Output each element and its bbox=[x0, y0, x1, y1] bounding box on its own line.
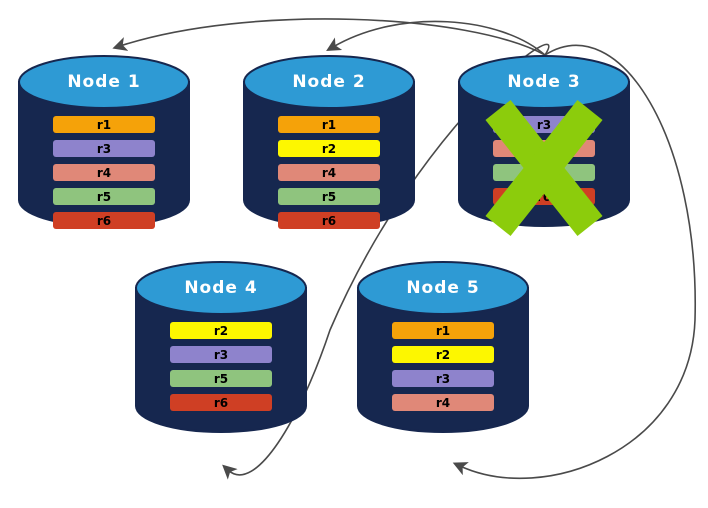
edge-node3-to-node1 bbox=[120, 19, 545, 55]
node-1-top-disc bbox=[19, 56, 189, 108]
node-4-replica-r2[interactable]: r2 bbox=[170, 322, 272, 339]
node-5-replica-r3[interactable]: r3 bbox=[392, 370, 494, 387]
node-2-replica-r4[interactable]: r4 bbox=[278, 164, 380, 181]
node-3-replica-r6[interactable]: r6 bbox=[493, 188, 595, 205]
node-5-replica-r1[interactable]: r1 bbox=[392, 322, 494, 339]
node-2-replica-r6[interactable]: r6 bbox=[278, 212, 380, 229]
diagram-canvas: Node 1r1r3r4r5r6Node 2r1r2r4r5r6Node 3r3… bbox=[0, 0, 708, 508]
node-4-replica-r3[interactable]: r3 bbox=[170, 346, 272, 363]
node-2-replica-r2[interactable]: r2 bbox=[278, 140, 380, 157]
node-1-replica-r3[interactable]: r3 bbox=[53, 140, 155, 157]
node-4-replica-r5[interactable]: r5 bbox=[170, 370, 272, 387]
node-3-top-disc bbox=[459, 56, 629, 108]
node-2[interactable]: Node 2r1r2r4r5r6 bbox=[243, 56, 415, 226]
node-1-replica-r1[interactable]: r1 bbox=[53, 116, 155, 133]
node-3-replica-r3[interactable]: r3 bbox=[493, 116, 595, 133]
node-1-replica-r6[interactable]: r6 bbox=[53, 212, 155, 229]
node-2-top-disc bbox=[244, 56, 414, 108]
node-3[interactable]: Node 3r3r4r5r6 bbox=[458, 56, 630, 226]
node-4[interactable]: Node 4r2r3r5r6 bbox=[135, 262, 307, 432]
node-3-replica-r5[interactable]: r5 bbox=[493, 164, 595, 181]
node-5-replica-r2[interactable]: r2 bbox=[392, 346, 494, 363]
node-2-replica-r5[interactable]: r5 bbox=[278, 188, 380, 205]
node-5[interactable]: Node 5r1r2r3r4 bbox=[357, 262, 529, 432]
node-4-top-disc bbox=[136, 262, 306, 314]
node-2-replica-r1[interactable]: r1 bbox=[278, 116, 380, 133]
node-3-replica-r4[interactable]: r4 bbox=[493, 140, 595, 157]
node-5-replica-r4[interactable]: r4 bbox=[392, 394, 494, 411]
node-5-top-disc bbox=[358, 262, 528, 314]
node-1-replica-r5[interactable]: r5 bbox=[53, 188, 155, 205]
node-1-replica-r4[interactable]: r4 bbox=[53, 164, 155, 181]
node-1[interactable]: Node 1r1r3r4r5r6 bbox=[18, 56, 190, 226]
node-4-replica-r6[interactable]: r6 bbox=[170, 394, 272, 411]
